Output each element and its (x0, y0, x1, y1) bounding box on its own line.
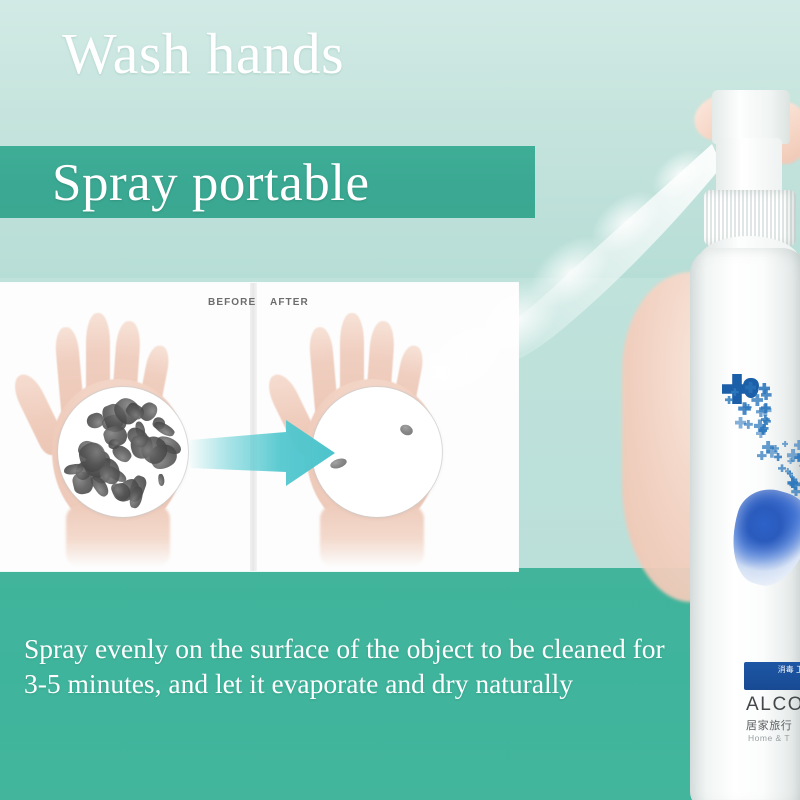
headline-secondary: Spray portable (52, 150, 552, 216)
label-badge-text: 消毒 卫生 (778, 665, 800, 675)
headline-primary: Wash hands (62, 24, 344, 85)
hand-before-image (18, 309, 218, 559)
advertisement-canvas: Wash hands Spray portable BEFORE AFTER (0, 0, 800, 800)
brand-name: ALCO (746, 694, 800, 716)
instruction-text: Spray evenly on the surface of the objec… (24, 632, 684, 702)
after-label: AFTER (270, 297, 309, 308)
bacteria-blob (157, 474, 164, 487)
product-bottle-group: 消毒 卫生 ALCO 居家旅行 Home & T (612, 72, 800, 772)
right-arrow-icon (190, 420, 335, 490)
brand-tagline: Home & T (748, 733, 790, 743)
spray-nozzle-icon (712, 90, 790, 144)
before-label: BEFORE (208, 297, 256, 308)
bacteria-blob (399, 423, 415, 437)
brand-chinese-subtitle: 居家旅行 (746, 717, 792, 733)
label-badge: 消毒 卫生 (744, 662, 800, 690)
nozzle-neck (716, 138, 782, 196)
magnifier-circle-before (58, 387, 188, 517)
